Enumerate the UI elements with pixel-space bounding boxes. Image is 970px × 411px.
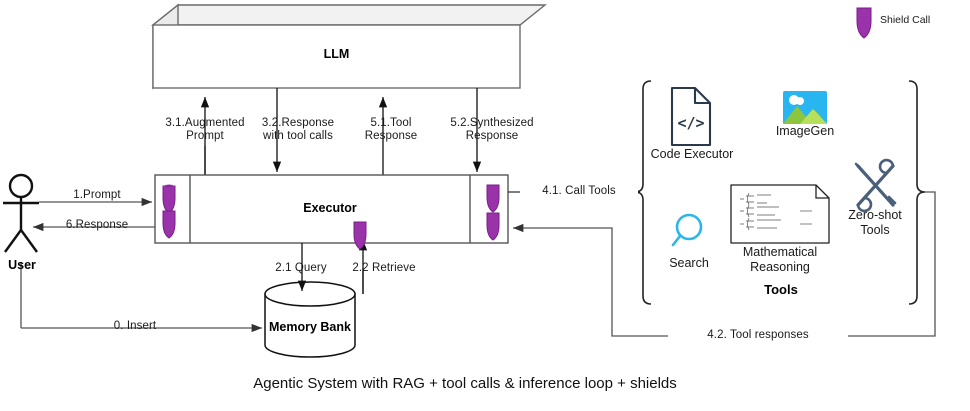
tool-label-mathematical-reasoning[interactable]: Mathematical Reasoning [730,245,830,275]
edge-label-retrieve: 2.2 Retrieve [330,262,438,275]
image-picture-icon [783,91,827,124]
shield-icon-executor-in-prompt [163,185,175,214]
edge-label-synthesized-response: 5.2.Synthesized Response [422,117,562,143]
user-label: User [0,258,44,272]
svg-text:</>: </> [677,114,704,132]
tools-group-label: Tools [726,282,836,297]
tools-right-brace [909,81,925,304]
edge-label-insert: 0. Insert [60,320,210,333]
edge-label-call-tools: 4.1. Call Tools [520,185,638,198]
user-node[interactable] [3,175,39,252]
diagram-vector-layer: </> [0,0,970,411]
edge-label-response: 6.Response [38,219,156,232]
shield-icon-executor-memory [354,222,366,249]
tool-label-zero-shot-tools[interactable]: Zero-shot Tools [838,208,912,238]
shield-icon-legend [857,8,871,38]
diagram-canvas: </> [0,0,970,411]
shield-icon-executor-tool-responses [487,213,499,240]
edge-insert [21,262,262,328]
magnifying-glass-icon [673,215,701,245]
shield-icon-executor-call-tools [487,185,499,212]
tool-label-search[interactable]: Search [654,256,724,271]
legend-label: Shield Call [880,14,930,26]
tool-label-code-executor[interactable]: Code Executor [646,147,738,162]
crossed-wrench-screwdriver-icon [856,160,895,211]
tool-label-image-gen[interactable]: ImageGen [762,124,848,139]
code-document-icon: </> [672,88,710,145]
llm-label: LLM [153,47,520,61]
memory-bank-label: Memory Bank [265,320,355,334]
formula-document-icon [731,185,829,243]
edge-label-prompt: 1.Prompt [42,189,152,202]
executor-label: Executor [190,201,470,215]
diagram-caption: Agentic System with RAG + tool calls & i… [0,375,930,392]
shield-icon-executor-out-response [163,211,175,238]
edge-label-tool-responses: 4.2. Tool responses [668,329,848,342]
